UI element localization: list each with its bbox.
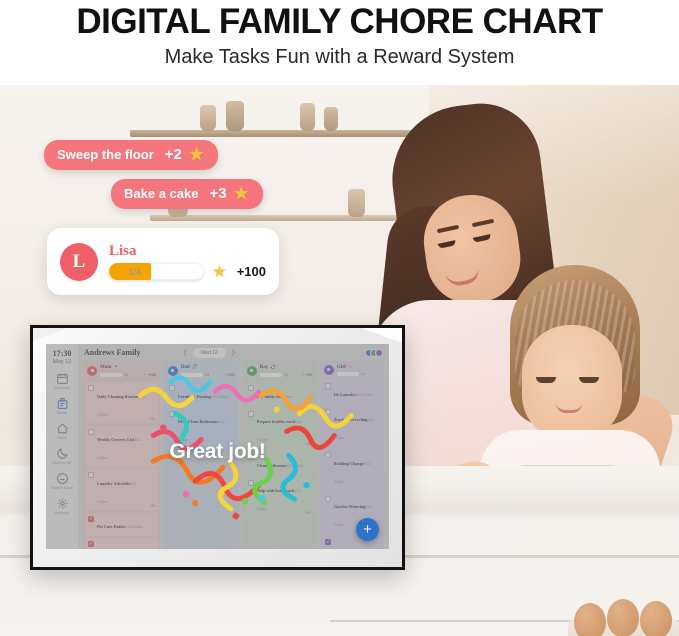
task-title: Help with homework [257,488,295,493]
member-details: Lisa 1/4 ★ +100 [109,243,266,280]
task-title: Furniture Dusting [178,394,211,399]
task-title: Do Laundry [334,392,356,397]
task-checkbox[interactable]: ✓ [88,541,94,547]
task-checkbox[interactable] [88,472,94,478]
clock-date: May 12 [53,359,72,365]
task-title: Pay utility bill [257,394,282,399]
member-name: Ray⚽ [260,364,312,370]
task-row[interactable]: ✓ Pet Care Duties8:30-5:00pm [85,513,158,536]
task-title: Laundry Schedule [97,481,130,486]
member-name: Lisa [109,243,266,260]
task-title: Deep Clean Bathroom [178,419,218,424]
task-checkbox[interactable] [169,385,175,391]
sidebar-label: To-Do [57,411,68,415]
chore-chip-label: Sweep the floor [57,147,154,162]
progress-bar [260,373,282,377]
chore-chip-sweep[interactable]: Sweep the floor +2 ★ [44,140,218,170]
task-time: 8:30-5:00pm [211,395,229,399]
jar-1 [200,105,216,131]
member-emoji: ⚽ [270,364,276,370]
checklist-icon [56,397,69,410]
member-emoji: 🌸 [348,364,354,370]
chore-chip-points: +2 [165,146,182,163]
home-icon [56,422,69,435]
task-title: Homework Review [334,548,368,550]
task-points: +10 [149,417,155,421]
column-header: Mom🍷 1/4 ★+100 [85,363,158,380]
sidebar-label: Settings [55,511,70,515]
progress-text: 1/4 [361,372,365,376]
task-time: 8:30-5:00pm [356,393,374,397]
girl-face [522,325,622,441]
sidebar-item-schedule[interactable]: Schedule [54,372,71,390]
date-navigator: ❮ Wed 12 ❯ [183,348,236,358]
sidebar-item-todo[interactable]: To-Do [56,397,69,415]
progress-text: 1/4 [284,373,288,377]
task-time: 8:30-5:00pm [125,525,143,529]
tablet-device: 17:30 May 12 Schedule To-Do [30,325,405,570]
task-time: 8:30-5:00pm [286,464,304,468]
task-checkbox[interactable] [88,385,94,391]
avatar: L [60,243,98,281]
task-points: +20 [149,504,155,508]
progress-bar [100,373,122,377]
task-checkbox[interactable] [169,411,175,417]
task-checkbox[interactable] [248,385,254,391]
task-checkbox[interactable]: ✓ [88,516,94,522]
task-points: +20 [305,511,311,515]
member-progress-row: 1/4 ★ +100 [109,263,266,280]
member-name: Girl🌸 [337,364,380,370]
chore-chip-bake[interactable]: Bake a cake +3 ★ [111,179,263,209]
sidebar-label: Schedule [54,386,71,390]
progress-text: 1/4 [205,373,209,377]
jar-3 [300,103,315,131]
tablet-bezel: 17:30 May 12 Schedule To-Do [33,328,402,567]
progress-text: 1/4 [124,373,128,377]
egg-2 [607,599,639,636]
progress-bar [181,373,203,377]
chevron-left-icon[interactable]: ❮ [183,349,188,356]
promo-page: DIGITAL FAMILY CHORE CHART Make Tasks Fu… [0,0,679,636]
column-header: Dad🎵 1/4 ★+100 [166,363,237,380]
star-icon: ★ [234,185,251,202]
current-day-label[interactable]: Wed 12 [193,348,226,358]
reward-points: ★+100 [222,372,235,378]
egg-1 [574,603,606,636]
jar-6 [348,189,365,217]
member-emoji: 🍷 [113,364,119,370]
chore-chip-points: +3 [209,185,226,202]
star-icon: ★ [301,372,305,378]
girl-eye-left [536,377,556,383]
avatar [168,366,178,376]
task-title: Pet Care Duties [97,524,125,529]
task-time: 5:00pm [282,395,293,399]
jar-4 [324,107,338,131]
progress-bar [337,372,359,376]
column-header: Ray⚽ 1/4 ★+20 [245,363,314,380]
celebration-message: Great job! [46,440,389,464]
reward-points: ★+100 [143,372,156,378]
column-header: Girl🌸 1/4 [322,363,382,378]
reward-points: ★+20 [301,372,312,378]
star-icon: ★ [143,372,147,378]
shelf-upper [130,130,430,137]
shelf-lower [150,215,400,221]
task-title: Daily Cleaning Routine [97,394,139,399]
star-icon: ★ [189,146,206,163]
gear-icon [56,497,69,510]
page-subtitle: Make Tasks Fun with a Reward System [0,46,679,69]
sidebar-label: Switch Mode [51,486,74,490]
task-checkbox[interactable] [325,409,331,415]
plus-icon: + [363,522,372,537]
task-checkbox[interactable]: ✓ [325,539,331,545]
avatar [375,349,383,357]
clock-time: 17:30 [53,349,72,358]
family-name: Andrews Family [84,348,141,357]
task-row[interactable]: Laundry Schedule8:30-5:00pm +20 [85,469,158,510]
task-title: Trash & Recycling [334,417,367,422]
member-emoji: 🎵 [192,364,198,370]
avatar [87,366,97,376]
task-row[interactable]: Do Laundry8:30-5:00pm [322,380,382,403]
star-icon: ★ [222,372,226,378]
task-row[interactable]: Daily Cleaning Routine8:30-5:00pm +10 [85,382,158,423]
calendar-icon [56,372,69,385]
task-title: Garden Watering [334,504,365,509]
task-checkbox[interactable] [248,480,254,486]
task-row[interactable]: Furniture Dusting8:30-5:00pm [166,382,237,405]
avatar [324,365,334,375]
face-icon [56,472,69,485]
jar-2 [226,101,244,131]
sidebar-item-settings[interactable]: Settings [55,497,70,515]
girl-eye-right [579,377,599,383]
member-name: Mom🍷 [100,364,156,370]
task-row[interactable]: ✓ Dishwashing Roster8:30-5:00pm +5 [85,538,158,549]
chevron-right-icon[interactable]: ❯ [231,349,236,356]
progress-bar: 1/4 [109,263,204,280]
sidebar-item-plans[interactable]: Plans [56,422,69,440]
task-checkbox[interactable] [325,496,331,502]
task-checkbox[interactable] [325,383,331,389]
task-checkbox[interactable] [248,411,254,417]
task-row[interactable]: Help with homework8:30-5:00pm +20 [245,477,314,518]
add-task-button[interactable]: + [356,518,379,541]
task-row[interactable]: Pay utility bill5:00pm [245,382,314,405]
avatar [247,366,257,376]
member-avatars[interactable] [368,349,383,357]
star-icon: ★ [212,263,229,280]
egg-3 [640,601,672,636]
app-topbar: Andrews Family ❮ Wed 12 ❯ [78,344,389,361]
reward-points: +100 [237,264,266,279]
chore-chip-label: Bake a cake [124,186,198,201]
member-progress-card[interactable]: L Lisa 1/4 ★ +100 [47,228,279,295]
task-title: Prepare healthy meal [257,419,295,424]
page-title: DIGITAL FAMILY CHORE CHART [0,2,679,42]
task-checkbox[interactable] [88,429,94,435]
progress-text: 1/4 [128,263,141,280]
sidebar-item-switch-mode[interactable]: Switch Mode [51,472,74,490]
member-name: Dad🎵 [181,364,235,370]
tablet-screen[interactable]: 17:30 May 12 Schedule To-Do [46,344,389,549]
